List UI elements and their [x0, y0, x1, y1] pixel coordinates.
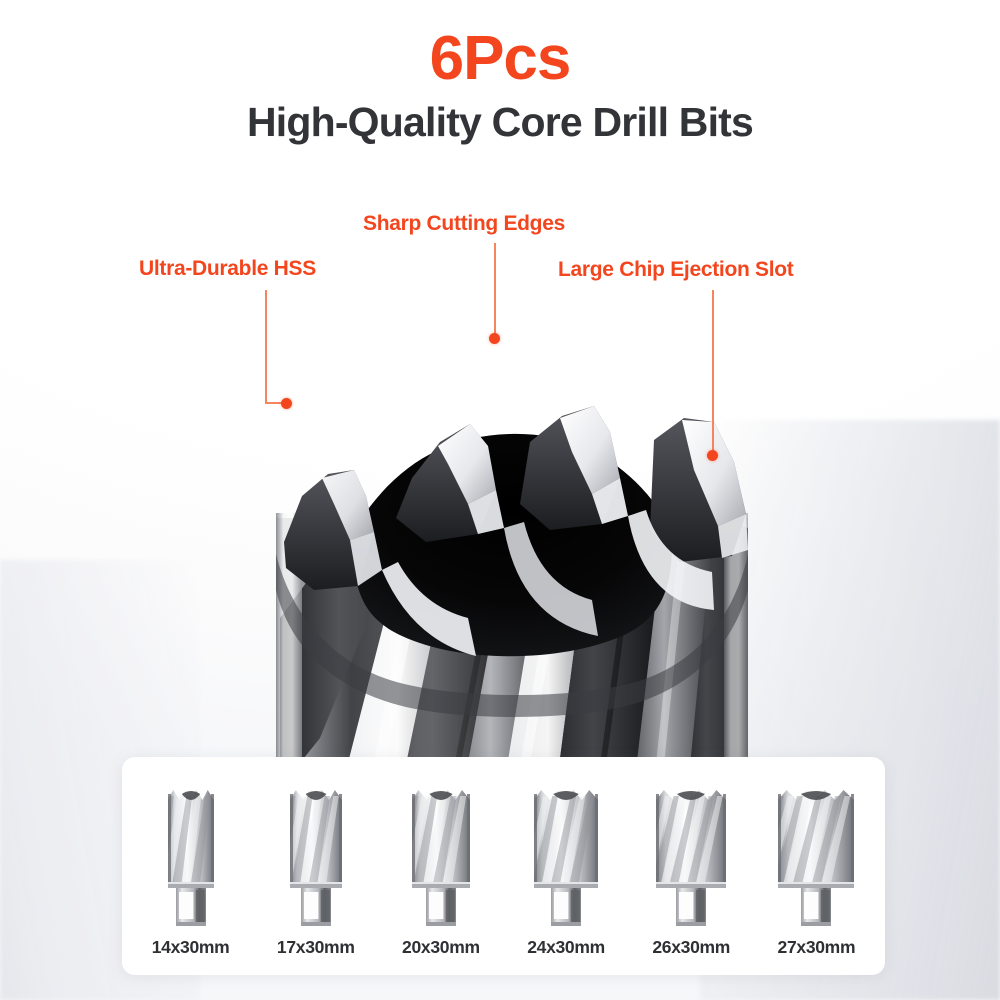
- callout-label-large-chip-ejection-slot: Large Chip Ejection Slot: [558, 258, 794, 282]
- leader-line-sharp-cutting-edges: [494, 243, 496, 338]
- product-lineup-row: 14x30mm: [122, 757, 885, 975]
- product-size-label: 14x30mm: [152, 937, 230, 958]
- core-drill-bit-icon: [533, 783, 599, 928]
- product-size-label: 27x30mm: [778, 937, 856, 958]
- core-drill-bit-icon: [167, 783, 215, 928]
- leader-line-ultra-durable-hss-vertical: [265, 290, 267, 403]
- leader-line-large-chip-ejection-slot: [712, 290, 714, 456]
- leader-dot-large-chip-ejection-slot: [707, 450, 718, 461]
- product-size-label: 17x30mm: [277, 937, 355, 958]
- product-lineup-item[interactable]: 24x30mm: [507, 783, 625, 975]
- product-size-label: 24x30mm: [527, 937, 605, 958]
- product-lineup-card: 14x30mm: [122, 757, 885, 975]
- product-infographic: 6Pcs High-Quality Core Drill Bits Ultra-…: [0, 0, 1000, 1000]
- product-lineup-item[interactable]: 20x30mm: [382, 783, 500, 975]
- product-lineup-item[interactable]: 17x30mm: [257, 783, 375, 975]
- core-drill-bit-icon: [655, 783, 727, 928]
- product-lineup-item[interactable]: 26x30mm: [632, 783, 750, 975]
- callout-label-ultra-durable-hss: Ultra-Durable HSS: [139, 257, 316, 281]
- product-lineup-item[interactable]: 27x30mm: [757, 783, 875, 975]
- product-size-label: 20x30mm: [402, 937, 480, 958]
- callout-label-sharp-cutting-edges: Sharp Cutting Edges: [363, 212, 565, 236]
- piece-count-title: 6Pcs: [0, 28, 1000, 90]
- core-drill-bit-icon: [289, 783, 343, 928]
- core-drill-bit-icon: [411, 783, 471, 928]
- leader-dot-ultra-durable-hss: [281, 398, 292, 409]
- page-title: High-Quality Core Drill Bits: [0, 102, 1000, 143]
- leader-dot-sharp-cutting-edges: [489, 333, 500, 344]
- core-drill-bit-icon: [777, 783, 855, 928]
- product-lineup-item[interactable]: 14x30mm: [132, 783, 250, 975]
- product-size-label: 26x30mm: [652, 937, 730, 958]
- header-block: 6Pcs High-Quality Core Drill Bits: [0, 28, 1000, 143]
